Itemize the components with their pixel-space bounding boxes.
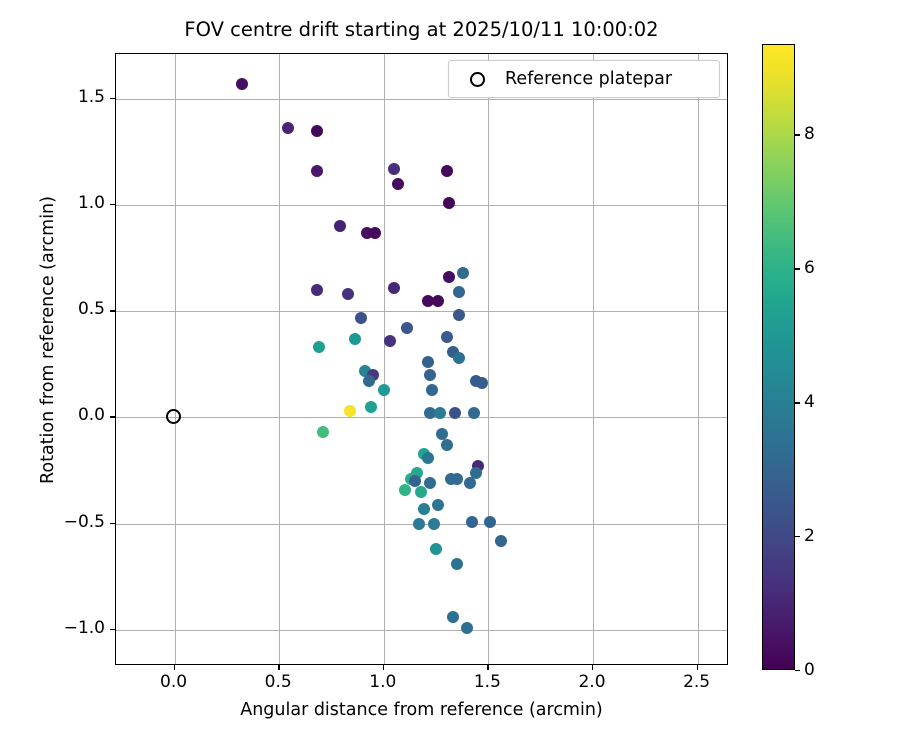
y-axis-ticklabel: 1.5 bbox=[25, 87, 105, 107]
scatter-point bbox=[466, 516, 478, 528]
x-axis-ticklabel: 1.0 bbox=[353, 672, 413, 692]
scatter-point bbox=[355, 312, 367, 324]
x-axis-ticklabel: 0.0 bbox=[144, 672, 204, 692]
scatter-point bbox=[453, 309, 465, 321]
y-axis-tick bbox=[110, 416, 115, 417]
scatter-point bbox=[418, 503, 430, 515]
scatter-point bbox=[399, 484, 411, 496]
gridline-vertical bbox=[175, 54, 176, 664]
scatter-point bbox=[441, 165, 453, 177]
colorbar bbox=[762, 44, 795, 670]
scatter-point bbox=[236, 78, 248, 90]
scatter-point bbox=[365, 401, 377, 413]
scatter-point bbox=[413, 518, 425, 530]
scatter-point bbox=[428, 518, 440, 530]
scatter-point bbox=[451, 558, 463, 570]
scatter-point bbox=[447, 611, 459, 623]
x-axis-ticklabel: 2.5 bbox=[667, 672, 727, 692]
gridline-horizontal bbox=[116, 205, 727, 206]
scatter-point bbox=[476, 377, 488, 389]
scatter-point bbox=[432, 499, 444, 511]
scatter-point bbox=[342, 288, 354, 300]
scatter-point bbox=[384, 335, 396, 347]
colorbar-tick bbox=[795, 268, 800, 269]
x-axis-ticklabel: 1.5 bbox=[457, 672, 517, 692]
scatter-point bbox=[441, 439, 453, 451]
colorbar-ticklabel: 4 bbox=[804, 392, 815, 412]
y-axis-ticklabel: 1.0 bbox=[25, 193, 105, 213]
gridline-vertical bbox=[384, 54, 385, 664]
gridline-vertical bbox=[279, 54, 280, 664]
x-axis-tick bbox=[383, 665, 384, 670]
colorbar-tick bbox=[795, 134, 800, 135]
x-axis-ticklabel: 2.0 bbox=[562, 672, 622, 692]
y-axis-ticklabel: 0.5 bbox=[25, 299, 105, 319]
gridline-horizontal bbox=[116, 417, 727, 418]
scatter-point bbox=[311, 284, 323, 296]
scatter-point bbox=[334, 220, 346, 232]
scatter-canvas bbox=[116, 54, 727, 664]
y-axis-tick bbox=[110, 523, 115, 524]
scatter-point bbox=[388, 163, 400, 175]
scatter-point bbox=[443, 271, 455, 283]
scatter-point bbox=[311, 125, 323, 137]
legend-entry-label: Reference platepar bbox=[505, 69, 672, 89]
scatter-point bbox=[449, 407, 461, 419]
x-axis-label: Angular distance from reference (arcmin) bbox=[115, 700, 728, 720]
page-title: FOV centre drift starting at 2025/10/11 … bbox=[115, 18, 728, 42]
gridline-horizontal bbox=[116, 99, 727, 100]
colorbar-tick bbox=[795, 402, 800, 403]
gridline-horizontal bbox=[116, 630, 727, 631]
scatter-point bbox=[457, 267, 469, 279]
legend-marker-wrap bbox=[449, 72, 505, 87]
x-axis-tick bbox=[174, 665, 175, 670]
chart-legend: Reference platepar bbox=[448, 60, 720, 98]
scatter-point bbox=[430, 543, 442, 555]
scatter-point bbox=[426, 384, 438, 396]
open-circle-icon bbox=[470, 72, 485, 87]
colorbar-gradient bbox=[763, 45, 794, 669]
scatter-point bbox=[422, 452, 434, 464]
y-axis-tick bbox=[110, 629, 115, 630]
scatter-point bbox=[317, 426, 329, 438]
scatter-point bbox=[432, 295, 444, 307]
scatter-point bbox=[453, 352, 465, 364]
gridline-vertical bbox=[698, 54, 699, 664]
x-axis-ticklabel: 0.5 bbox=[248, 672, 308, 692]
scatter-point bbox=[461, 622, 473, 634]
colorbar-ticklabel: 8 bbox=[804, 124, 815, 144]
x-axis-tick bbox=[278, 665, 279, 670]
scatter-point bbox=[453, 286, 465, 298]
scatter-point bbox=[401, 322, 413, 334]
y-axis-tick bbox=[110, 98, 115, 99]
scatter-point bbox=[415, 486, 427, 498]
scatter-point bbox=[443, 197, 455, 209]
scatter-point bbox=[468, 407, 480, 419]
colorbar-ticklabel: 6 bbox=[804, 258, 815, 278]
scatter-point bbox=[464, 477, 476, 489]
scatter-point bbox=[424, 369, 436, 381]
colorbar-tick bbox=[795, 670, 800, 671]
scatter-point bbox=[349, 333, 361, 345]
x-axis-tick bbox=[697, 665, 698, 670]
y-axis-ticklabel: 0.0 bbox=[25, 405, 105, 425]
scatter-point bbox=[311, 165, 323, 177]
scatter-point bbox=[495, 535, 507, 547]
plot-axes bbox=[115, 53, 728, 665]
y-axis-ticklabel: −1.0 bbox=[25, 618, 105, 638]
y-axis-ticklabel: −0.5 bbox=[25, 512, 105, 532]
scatter-point bbox=[363, 375, 375, 387]
gridline-vertical bbox=[488, 54, 489, 664]
y-axis-tick bbox=[110, 310, 115, 311]
scatter-point bbox=[313, 341, 325, 353]
gridline-vertical bbox=[593, 54, 594, 664]
gridline-horizontal bbox=[116, 311, 727, 312]
scatter-point bbox=[388, 282, 400, 294]
colorbar-ticklabel: 0 bbox=[804, 660, 815, 680]
x-axis-tick bbox=[487, 665, 488, 670]
scatter-point bbox=[282, 122, 294, 134]
scatter-point bbox=[378, 384, 390, 396]
scatter-point bbox=[344, 405, 356, 417]
colorbar-ticklabel: 2 bbox=[804, 526, 815, 546]
scatter-point bbox=[441, 331, 453, 343]
chart-figure: FOV centre drift starting at 2025/10/11 … bbox=[0, 0, 900, 750]
reference-platepar-marker bbox=[166, 409, 181, 424]
colorbar-tick bbox=[795, 536, 800, 537]
scatter-point bbox=[484, 516, 496, 528]
x-axis-tick bbox=[592, 665, 593, 670]
scatter-point bbox=[369, 227, 381, 239]
scatter-point bbox=[422, 356, 434, 368]
scatter-point bbox=[392, 178, 404, 190]
scatter-point bbox=[451, 473, 463, 485]
y-axis-tick bbox=[110, 204, 115, 205]
